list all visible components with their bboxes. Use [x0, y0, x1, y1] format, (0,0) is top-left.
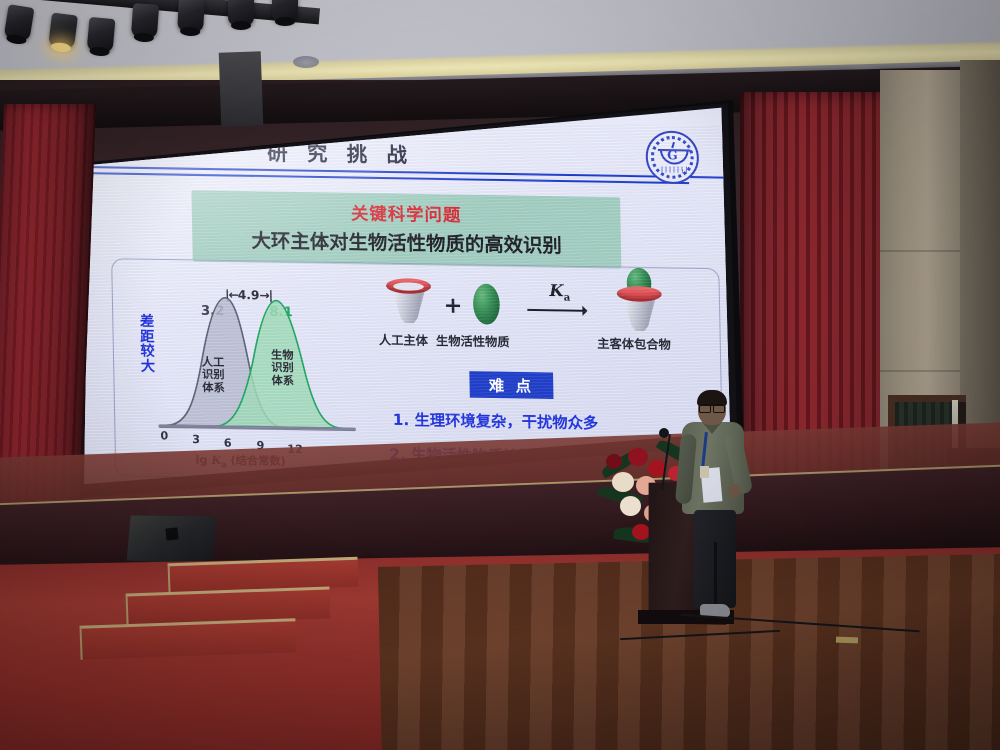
- series-label-biological: 生物识别体系: [265, 349, 300, 387]
- host-molecule-icon: [386, 278, 432, 326]
- stage-steps[interactable]: [64, 560, 364, 695]
- stage-light-icon: [87, 17, 116, 53]
- series-label-artificial: 人工识别体系: [196, 356, 231, 394]
- floor-tape-marker: [836, 637, 858, 644]
- presenter: [676, 392, 748, 627]
- ceiling-vent-icon: [293, 56, 319, 68]
- microphone-icon: [659, 428, 669, 438]
- binding-constant-symbol: Ka: [549, 281, 570, 304]
- host-caption: 人工主体: [379, 331, 428, 349]
- stage-light-icon: [177, 0, 205, 33]
- key-question-statement: 大环主体对生物活性物质的高效识别: [202, 225, 611, 259]
- stage-light-icon: [272, 0, 298, 22]
- presenter-hand: [728, 484, 741, 498]
- difficulty-item-1: 1. 生理环境复杂，干扰物众多: [393, 409, 599, 434]
- reaction-arrow-icon: [527, 309, 586, 312]
- complex-caption: 主客体包合物: [597, 335, 671, 354]
- stage-light-icon: [131, 3, 159, 39]
- x-tick-2: 6: [224, 436, 232, 449]
- presenter-leg-split: [714, 542, 717, 608]
- step-bottom: [79, 618, 296, 660]
- guest-caption: 生物活性物质: [436, 332, 510, 351]
- key-question-box: 关键科学问题 大环主体对生物活性物质的高效识别: [191, 190, 621, 268]
- key-question-heading: 关键科学问题: [202, 196, 611, 228]
- stage-light-icon: [48, 13, 78, 50]
- plus-sign: +: [443, 293, 462, 319]
- difficulty-badge-label: 难 点: [489, 374, 535, 396]
- complex-molecule-icon: [617, 286, 663, 334]
- university-logo: G: [645, 130, 699, 184]
- binding-constant-chart: 差距较大 |←4.9→| 3.2 8.1 人工识别体系 生物识别体系: [135, 272, 373, 470]
- chart-plot-area: [153, 272, 360, 451]
- logo-letter: G: [667, 148, 678, 162]
- screenshot-root: 研 究 挑 战 G 关键科学问题 大环主体对生物活性物质的高效识别: [0, 0, 1000, 750]
- step-side-panel: [219, 51, 264, 126]
- difficulty-badge: 难 点: [469, 371, 553, 399]
- glasses-icon: [699, 404, 725, 411]
- stage-light-icon: [228, 0, 254, 26]
- logo-waves-icon: [660, 166, 689, 173]
- guest-molecule-icon: [473, 284, 500, 325]
- speaker-handle-icon: [165, 527, 178, 540]
- host-guest-reaction: + Ka 人工主体 生物活性物质 主客体包合物: [376, 274, 715, 373]
- x-tick-0: 0: [160, 429, 168, 442]
- x-tick-1: 3: [192, 433, 200, 446]
- presenter-badge: [700, 466, 709, 478]
